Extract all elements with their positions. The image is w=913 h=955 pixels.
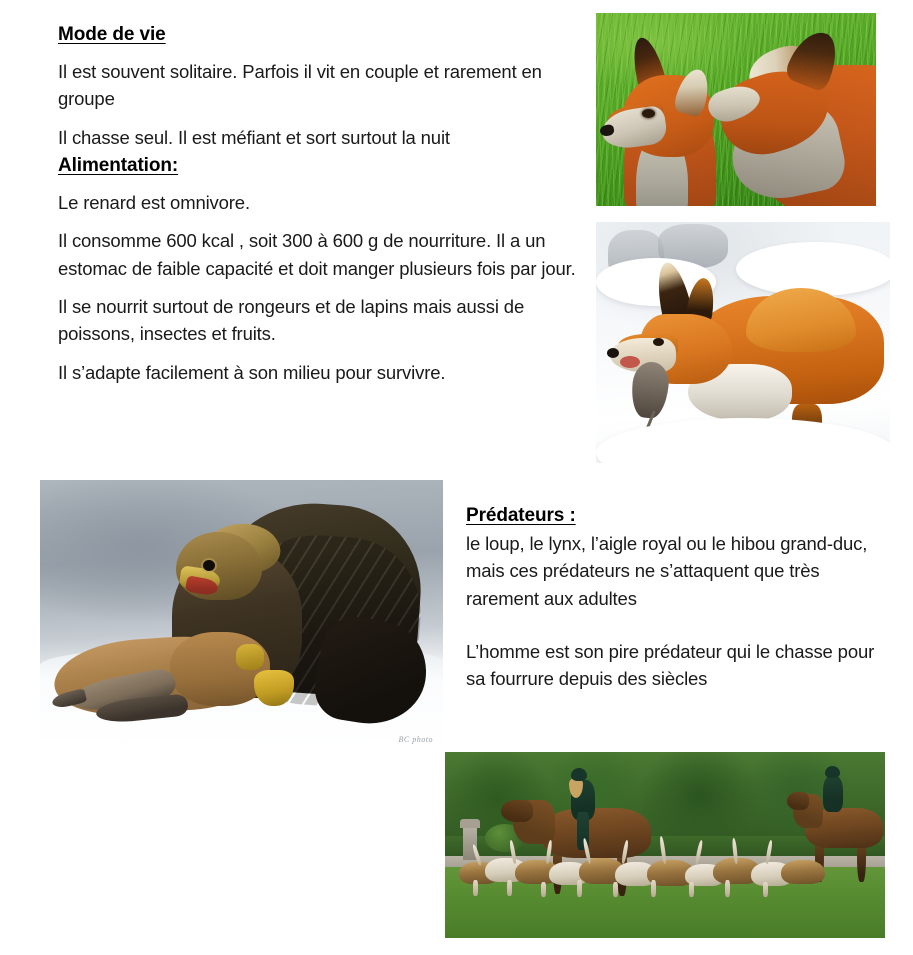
hound-leg-7 [689, 882, 694, 897]
left-horse-head [501, 800, 533, 822]
fox-tongue [620, 356, 640, 368]
photo-fox-hunt-with-hounds [445, 752, 885, 938]
hunt-scene [445, 752, 885, 938]
section-predateurs: Prédateurs : le loup, le lynx, l’aigle r… [466, 505, 886, 693]
paragraph-life-1: Il est souvent solitaire. Parfois il vit… [58, 58, 588, 113]
hound-leg-5 [613, 882, 618, 897]
fox-a-eye [642, 109, 655, 118]
fox-snow-scene [596, 222, 890, 463]
section-alimentation: Alimentation: Le renard est omnivore. Il… [58, 155, 586, 386]
hound-11 [781, 860, 825, 884]
hound-leg-3 [541, 882, 546, 897]
left-horse-body [541, 808, 651, 858]
eagle-talon-upper [236, 644, 264, 670]
left-rider-head-with-cap [571, 768, 587, 781]
right-horse-hindleg [857, 842, 866, 882]
paragraph-life-2: Il chasse seul. Il est méfiant et sort s… [58, 124, 588, 151]
paragraph-food-2: Il consomme 600 kcal , soit 300 à 600 g … [58, 227, 586, 282]
photo-fox-in-snow [596, 222, 890, 463]
paragraph-spacer [466, 612, 886, 638]
eagle-eye [203, 560, 215, 571]
document-page: Mode de vie Il est souvent solitaire. Pa… [0, 0, 913, 955]
hound-leg-6 [651, 880, 656, 897]
hound-leg-2 [507, 880, 512, 896]
photo-two-foxes-on-grass [596, 13, 876, 206]
snow-mound-2 [736, 242, 890, 296]
paragraph-predators-2: L’homme est son pire prédateur qui le ch… [466, 638, 886, 693]
fox-eye [653, 338, 664, 346]
paragraph-food-1: Le renard est omnivore. [58, 189, 586, 216]
right-rider-body [823, 776, 843, 812]
photo-watermark: BC photo [399, 735, 433, 744]
hound-leg-9 [763, 882, 768, 897]
paragraph-food-3: Il se nourrit surtout de rongeurs et de … [58, 293, 586, 348]
paragraph-food-4: Il s’adapte facilement à son milieu pour… [58, 359, 586, 386]
heading-alimentation: Alimentation: [58, 155, 586, 178]
right-rider-head-with-cap [825, 766, 840, 778]
hound-leg-1 [473, 880, 478, 896]
paragraph-predators-1: le loup, le lynx, l’aigle royal ou le hi… [466, 530, 886, 612]
foxes-pair-scene [596, 13, 876, 206]
heading-mode-de-vie: Mode de vie [58, 24, 588, 47]
section-mode-de-vie: Mode de vie Il est souvent solitaire. Pa… [58, 24, 588, 151]
heading-predateurs: Prédateurs : [466, 505, 886, 528]
fox-nose [607, 348, 619, 358]
eagle-scene: BC photo [40, 480, 443, 750]
hound-leg-8 [725, 880, 730, 897]
photo-golden-eagle-with-fox: BC photo [40, 480, 443, 750]
right-horse-head [787, 792, 809, 810]
hound-leg-4 [577, 880, 582, 897]
